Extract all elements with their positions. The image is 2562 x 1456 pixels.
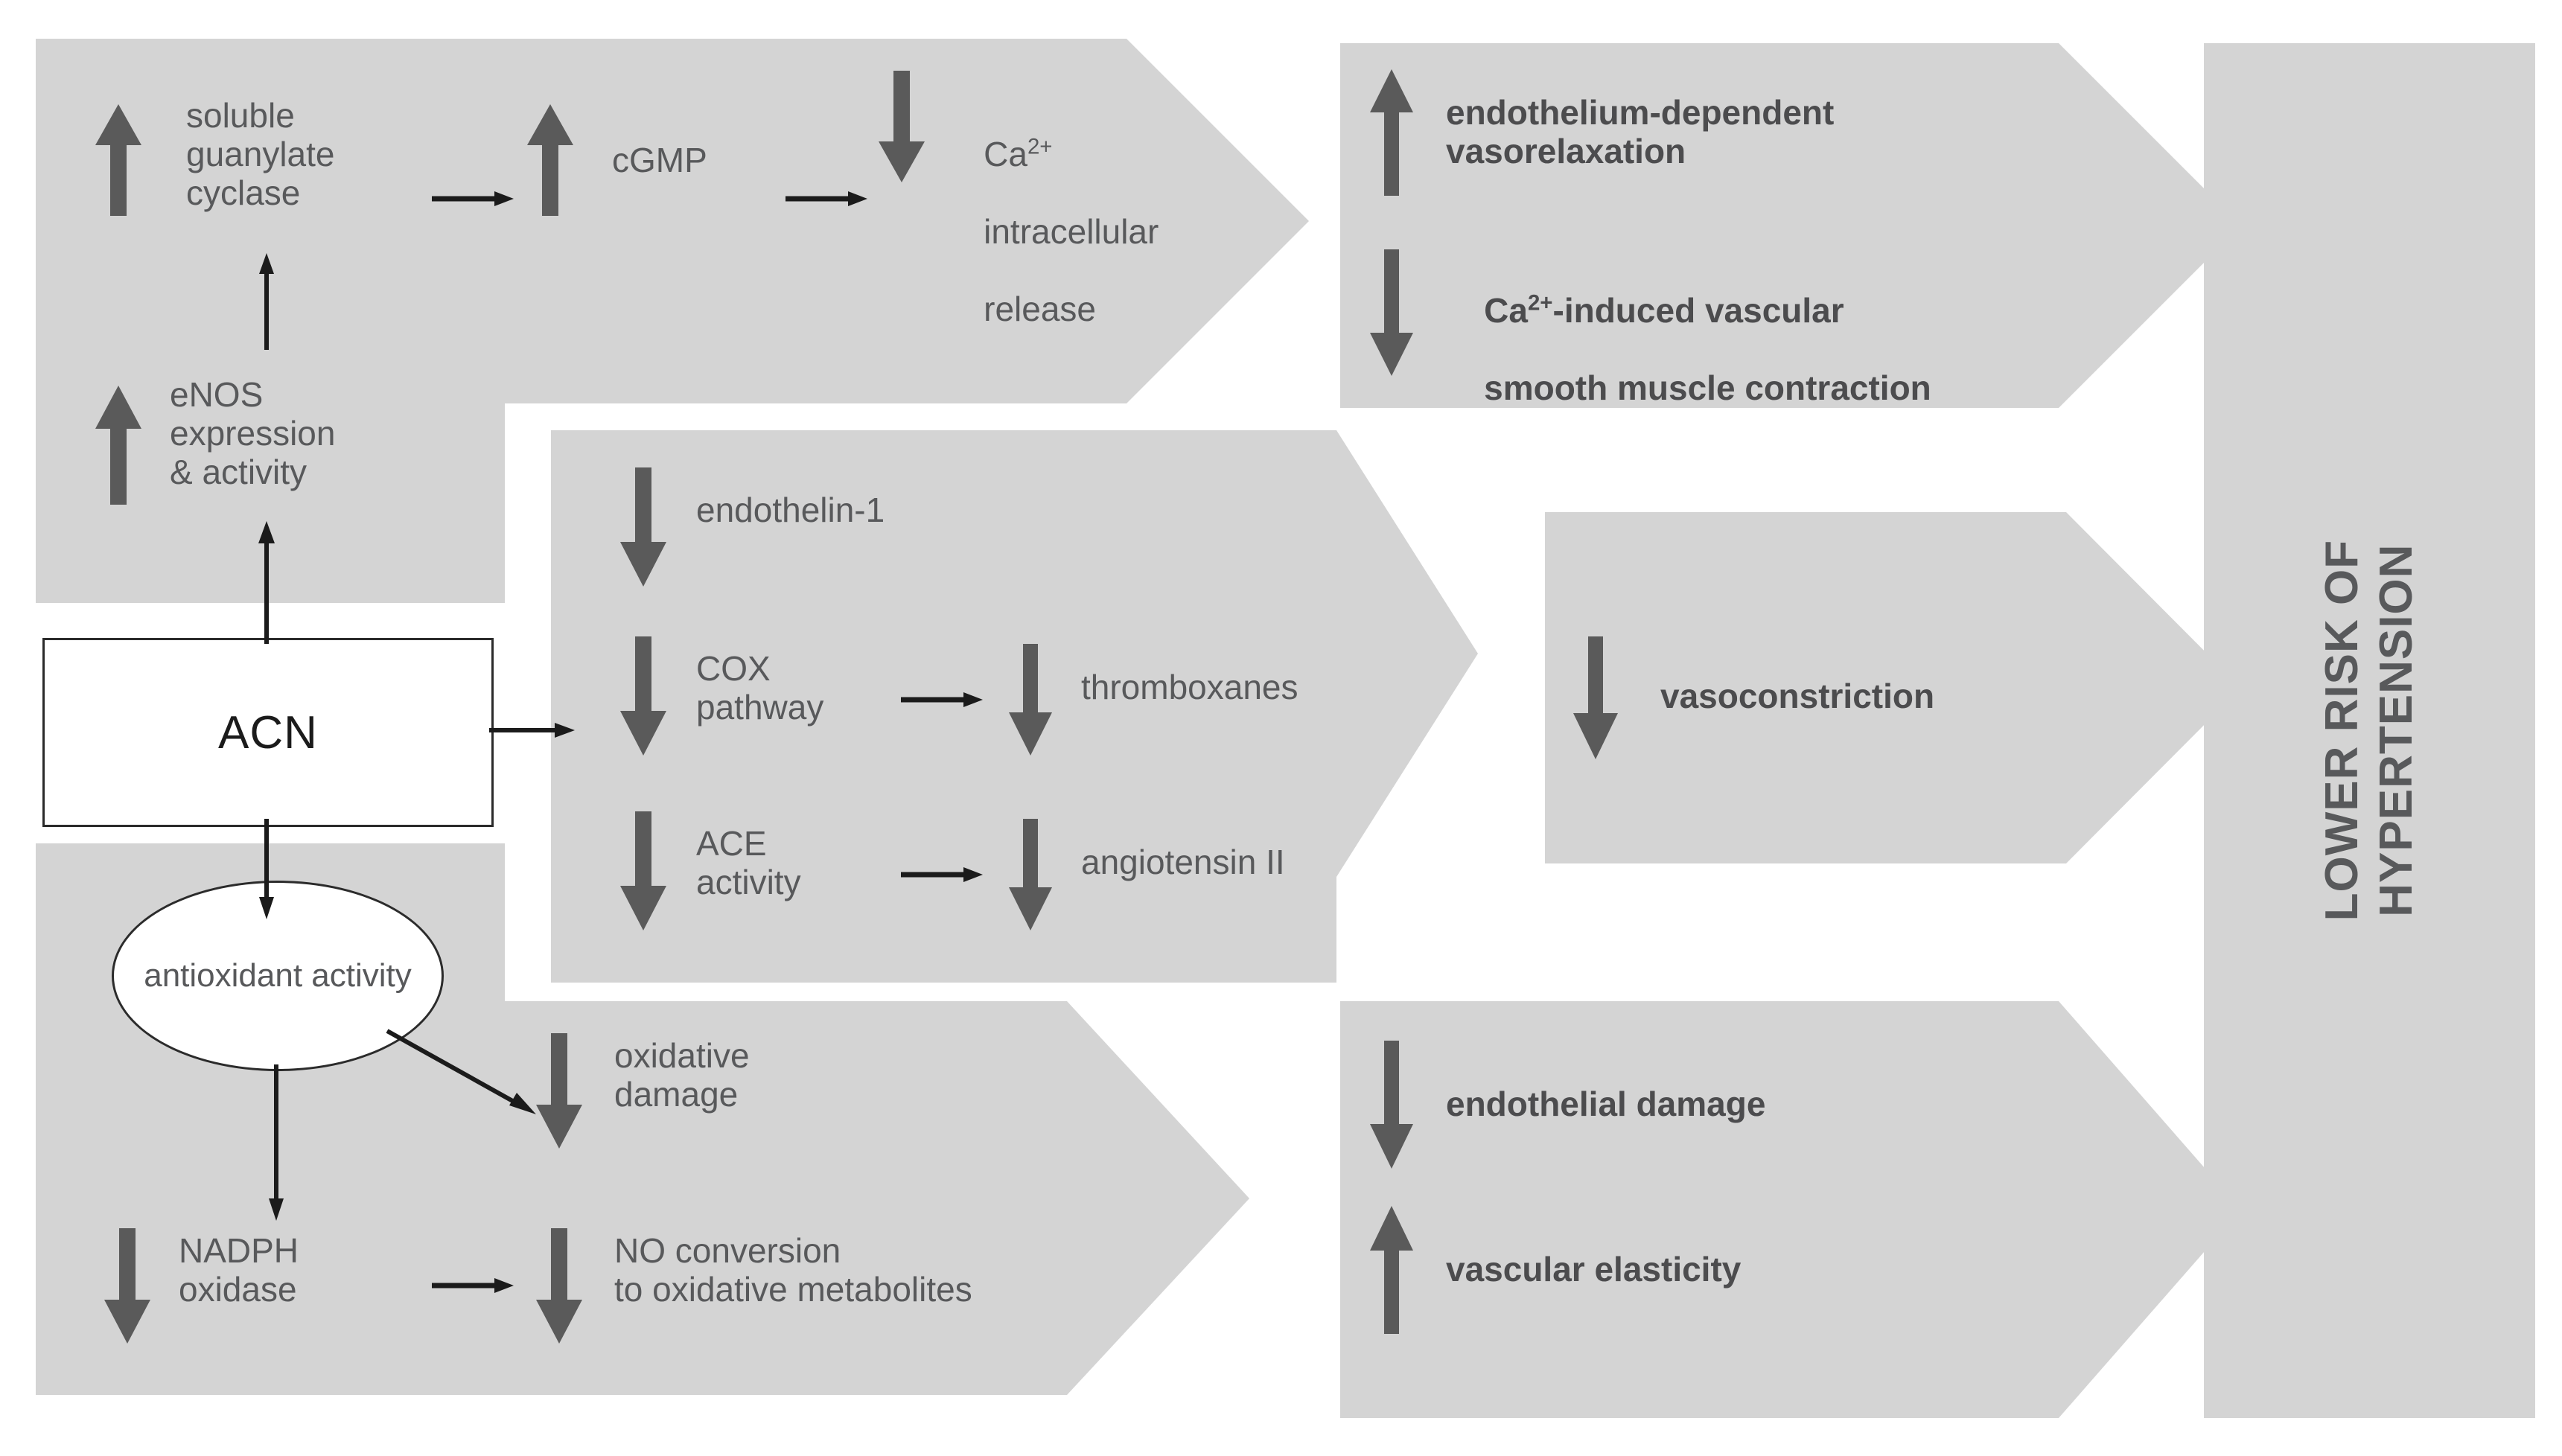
node-acn[interactable]: ACN (42, 638, 494, 827)
label-ca-induced-superscript: 2+ (1528, 291, 1553, 316)
connector-arrow-acn-to-antioxidant (257, 819, 276, 919)
label-ca-line2: intracellular (984, 212, 1159, 251)
label-ca-induced-contraction: Ca2+-induced vascular smooth muscle cont… (1446, 253, 1931, 447)
up-arrow-icon-soluble-guanylate-cyclase (95, 104, 141, 216)
label-vasoconstriction: vasoconstriction (1660, 677, 1934, 716)
label-ca-induced-line2: smooth muscle contraction (1484, 368, 1931, 407)
label-enos: eNOS expression & activity (170, 376, 335, 492)
up-arrow-icon-cgmp (527, 104, 573, 216)
connector-arrow-acn-to-mediators (489, 721, 575, 740)
label-ca-intracellular-release: Ca2+ intracellular release (946, 97, 1159, 368)
connector-arrow-cgmp-to-ca (786, 190, 867, 208)
label-cgmp: cGMP (612, 141, 707, 180)
panel-endothelial-health (1340, 1001, 2241, 1418)
label-ca-line1-base: Ca (984, 135, 1027, 173)
connector-arrow-acn-to-enos (257, 521, 276, 644)
down-arrow-icon-cox-pathway (620, 636, 666, 756)
label-ace-activity: ACE activity (696, 825, 801, 902)
connector-arrow-enos-to-sgc (257, 253, 276, 350)
label-ca-line1-superscript: 2+ (1027, 135, 1053, 159)
down-arrow-icon-no-conversion (536, 1228, 582, 1344)
down-arrow-icon-nadph-oxidase (104, 1228, 150, 1344)
down-arrow-icon-ace-activity (620, 811, 666, 930)
label-ca-induced-rest: -induced vascular (1553, 291, 1844, 330)
down-arrow-icon-oxidative-damage (536, 1033, 582, 1149)
diagram-canvas: LOWER RISK OF HYPERTENSION ACN antioxida… (0, 0, 2562, 1456)
connector-arrow-antioxidant-to-oxidative-damage (387, 1031, 536, 1117)
label-endothelin-1: endothelin-1 (696, 491, 885, 530)
down-arrow-icon-endothelial-damage (1370, 1041, 1413, 1169)
up-arrow-icon-enos (95, 386, 141, 505)
label-ca-induced-base: Ca (1484, 291, 1528, 330)
outcome-label: LOWER RISK OF HYPERTENSION (2204, 43, 2535, 1418)
label-endothelial-damage: endothelial damage (1446, 1085, 1765, 1124)
connector-arrow-antioxidant-to-nadph (267, 1064, 286, 1221)
label-thromboxanes: thromboxanes (1081, 668, 1298, 707)
label-no-conversion: NO conversion to oxidative metabolites (614, 1232, 972, 1309)
down-arrow-icon-thromboxanes (1009, 644, 1052, 756)
connector-arrow-nadph-to-no-conversion (432, 1277, 514, 1294)
outcome-label-text: LOWER RISK OF HYPERTENSION (2315, 540, 2424, 921)
down-arrow-icon-vasoconstriction (1573, 636, 1618, 759)
down-arrow-icon-ca-intracellular-release (879, 71, 925, 182)
node-acn-label: ACN (218, 706, 318, 759)
label-ca-line3: release (984, 290, 1096, 328)
label-soluble-guanylate-cyclase: soluble guanylate cyclase (186, 97, 335, 213)
label-oxidative-damage: oxidative damage (614, 1037, 750, 1114)
label-endothelium-dependent-vasorelaxation: endothelium-dependent vasorelaxation (1446, 94, 1834, 171)
down-arrow-icon-endothelin-1 (620, 467, 666, 587)
label-angiotensin-ii: angiotensin II (1081, 843, 1285, 882)
label-nadph-oxidase: NADPH oxidase (179, 1232, 299, 1309)
down-arrow-icon-angiotensin-ii (1009, 819, 1052, 930)
connector-arrow-sgc-to-cgmp (432, 190, 514, 208)
up-arrow-icon-endothelium-dependent-vasorelaxation (1370, 69, 1413, 196)
up-arrow-icon-vascular-elasticity (1370, 1206, 1413, 1334)
connector-arrow-ace-to-angiotensin (901, 866, 983, 884)
label-cox-pathway: COX pathway (696, 650, 823, 727)
label-vascular-elasticity: vascular elasticity (1446, 1251, 1741, 1289)
node-antioxidant-activity-label: antioxidant activity (144, 957, 412, 996)
connector-arrow-cox-to-thromboxanes (901, 691, 983, 709)
down-arrow-icon-ca-induced-contraction (1370, 249, 1413, 376)
